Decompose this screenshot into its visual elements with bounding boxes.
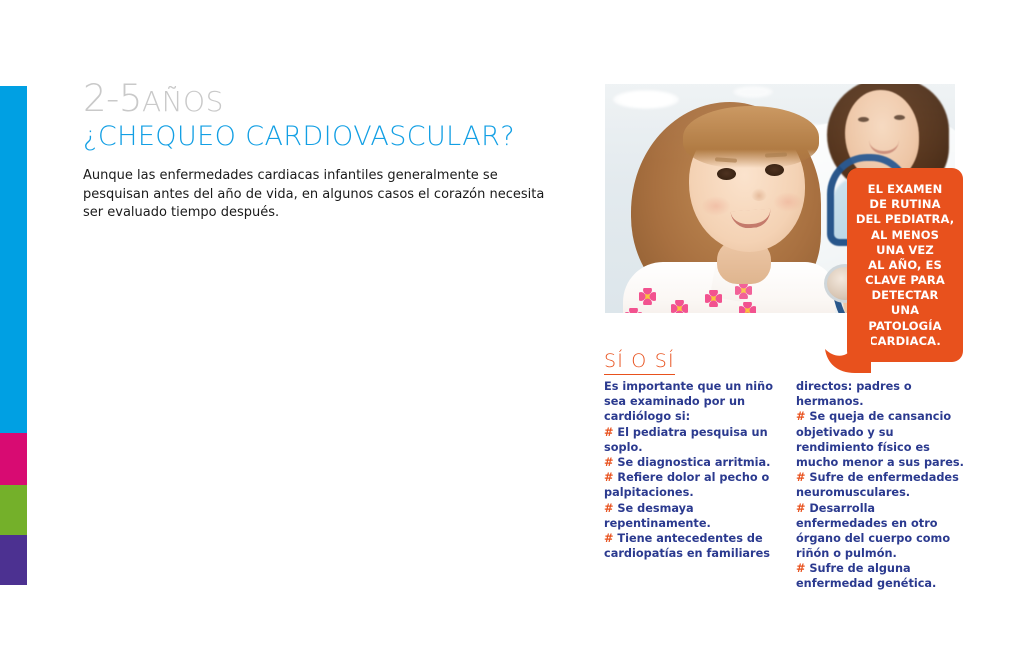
si-o-si-column-left: Es importante que un niño sea examinado … — [604, 379, 774, 592]
si-o-si-column-right-text: directos: padres o hermanos.# Se queja d… — [796, 379, 966, 592]
callout-bubble-text: EL EXAMEN DE RUTINA DEL PEDIATRA, AL MEN… — [855, 182, 955, 349]
flower-pattern-icon — [705, 290, 722, 307]
ceiling-light-icon — [613, 90, 679, 109]
color-rail — [0, 86, 27, 585]
age-range-number: 2-5 — [83, 77, 142, 120]
flower-pattern-icon — [625, 308, 642, 313]
flower-pattern-icon — [671, 300, 688, 313]
flower-pattern-icon — [639, 288, 656, 305]
rail-segment-blue — [0, 86, 27, 433]
girl-nose — [751, 188, 767, 201]
age-range-word: AÑOS — [142, 85, 224, 118]
flower-pattern-icon — [739, 302, 756, 313]
rail-segment-green — [0, 485, 27, 535]
callout-bubble-body: EL EXAMEN DE RUTINA DEL PEDIATRA, AL MEN… — [847, 168, 963, 362]
si-o-si-column-right: directos: padres o hermanos.# Se queja d… — [796, 379, 966, 592]
headline-block: 2-5AÑOS ¿CHEQUEO CARDIOVASCULAR? Aunque … — [83, 80, 583, 223]
girl-eye — [765, 164, 784, 176]
doctor-eye — [858, 117, 869, 122]
page-title: ¿CHEQUEO CARDIOVASCULAR? — [83, 123, 583, 151]
lead-paragraph: Aunque las enfermedades cardiacas infant… — [83, 167, 553, 222]
girl-cheek — [773, 192, 803, 212]
si-o-si-columns: Es importante que un niño sea examinado … — [604, 379, 966, 592]
ceiling-light-icon — [733, 86, 773, 98]
girl-eye — [717, 168, 736, 180]
girl-bangs — [683, 106, 819, 168]
si-o-si-heading: SÍ O SÍ — [604, 352, 675, 375]
flower-pattern-icon — [735, 282, 752, 299]
age-range-title: 2-5AÑOS — [83, 80, 583, 117]
doctor-eye — [894, 115, 905, 120]
girl-cheek — [701, 196, 731, 216]
si-o-si-column-left-text: Es importante que un niño sea examinado … — [604, 379, 774, 561]
rail-segment-magenta — [0, 433, 27, 485]
rail-segment-purple — [0, 535, 27, 585]
callout-bubble: EL EXAMEN DE RUTINA DEL PEDIATRA, AL MEN… — [847, 168, 963, 362]
